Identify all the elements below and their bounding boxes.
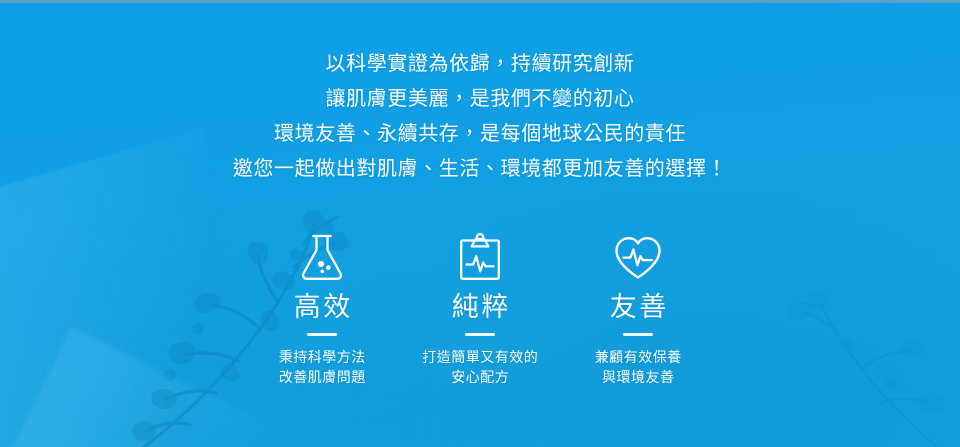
headline-line-1: 以科學實證為依歸，持續研究創新: [0, 47, 960, 82]
feature-divider: [465, 333, 495, 336]
feature-title: 高效: [291, 290, 353, 324]
feature-description-line-2: 改善肌膚問題: [278, 367, 366, 387]
feature-description: 兼顧有效保養 與環境友善: [594, 347, 682, 387]
feature-divider: [623, 333, 653, 336]
brand-philosophy-section: 以科學實證為依歸，持續研究創新 讓肌膚更美麗，是我們不變的初心 環境友善、永續共…: [0, 0, 960, 447]
heart-pulse-icon: [613, 232, 663, 284]
feature-description-line-1: 秉持科學方法: [278, 347, 366, 367]
feature-divider: [307, 333, 337, 336]
headline-block: 以科學實證為依歸，持續研究創新 讓肌膚更美麗，是我們不變的初心 環境友善、永續共…: [0, 47, 960, 187]
clipboard-pulse-icon: [458, 232, 502, 284]
feature-description-line-2: 安心配方: [422, 367, 539, 387]
feature-item-efficacy: 高效 秉持科學方法 改善肌膚問題: [243, 232, 401, 387]
feature-title: 純粹: [449, 290, 511, 324]
feature-list: 高效 秉持科學方法 改善肌膚問題 純粹 打造簡單又有效的 安心配方: [0, 232, 960, 387]
flask-icon: [299, 232, 345, 284]
feature-description-line-1: 兼顧有效保養: [594, 347, 682, 367]
feature-description-line-1: 打造簡單又有效的: [422, 347, 539, 367]
headline-line-2: 讓肌膚更美麗，是我們不變的初心: [0, 82, 960, 117]
feature-description: 秉持科學方法 改善肌膚問題: [278, 347, 366, 387]
feature-item-purity: 純粹 打造簡單又有效的 安心配方: [401, 232, 559, 387]
feature-description: 打造簡單又有效的 安心配方: [422, 347, 539, 387]
headline-line-4: 邀您一起做出對肌膚、生活、環境都更加友善的選擇！: [0, 152, 960, 187]
feature-title: 友善: [607, 290, 669, 324]
feature-description-line-2: 與環境友善: [594, 367, 682, 387]
section-top-divider: [0, 0, 960, 3]
feature-item-friendly: 友善 兼顧有效保養 與環境友善: [559, 232, 717, 387]
headline-line-3: 環境友善、永續共存，是每個地球公民的責任: [0, 117, 960, 152]
